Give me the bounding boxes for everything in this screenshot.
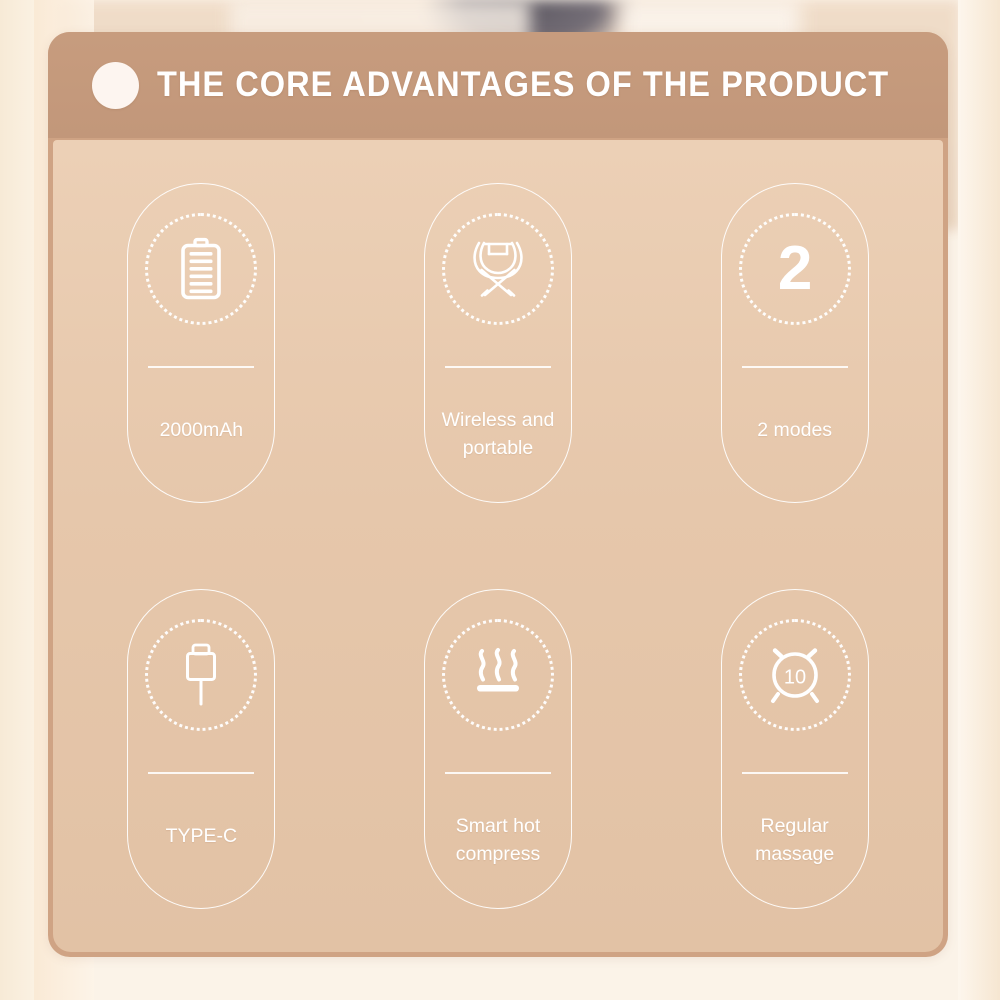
icon-container xyxy=(145,213,257,325)
feature-cell-two-modes: 2 2 modes xyxy=(646,140,943,546)
icon-container xyxy=(442,619,554,731)
icon-container: 2 xyxy=(739,213,851,325)
feature-label: 2 modes xyxy=(726,416,864,444)
feature-cell-wireless-portable: Wireless and portable xyxy=(350,140,647,546)
panel-header: THE CORE ADVANTAGES OF THE PRODUCT xyxy=(48,32,948,138)
feature-label: Wireless and portable xyxy=(429,406,567,463)
feature-label: Smart hot compress xyxy=(429,812,567,869)
usb-type-c-plug-icon xyxy=(169,643,233,707)
feature-card[interactable]: Wireless and portable xyxy=(424,183,572,503)
feature-label-line: portable xyxy=(429,434,567,462)
feature-cell-smart-hot-compress: Smart hot compress xyxy=(350,546,647,952)
feature-card[interactable]: Smart hot compress xyxy=(424,589,572,909)
feature-cell-regular-massage: 10 Regular massage xyxy=(646,546,943,952)
mode-count-value: 2 xyxy=(778,238,811,300)
feature-label: 2000mAh xyxy=(132,416,270,444)
features-grid: 2000mAh xyxy=(53,140,943,952)
neck-massager-icon xyxy=(466,237,530,301)
feature-label-line: massage xyxy=(726,840,864,868)
icon-container xyxy=(145,619,257,731)
alarm-clock-icon: 10 xyxy=(763,643,827,707)
background-stripe-right xyxy=(958,0,1000,1000)
feature-cell-type-c-charging: TYPE-C xyxy=(53,546,350,952)
page-title: THE CORE ADVANTAGES OF THE PRODUCT xyxy=(157,65,889,105)
card-divider xyxy=(445,366,551,368)
advantages-panel: THE CORE ADVANTAGES OF THE PRODUCT xyxy=(48,32,948,957)
icon-container xyxy=(442,213,554,325)
icon-container: 10 xyxy=(739,619,851,731)
feature-card[interactable]: 2 2 modes xyxy=(721,183,869,503)
massage-duration-value: 10 xyxy=(784,667,806,689)
feature-card[interactable]: 2000mAh xyxy=(127,183,275,503)
feature-label: TYPE-C xyxy=(132,822,270,850)
card-divider xyxy=(148,366,254,368)
heat-waves-icon xyxy=(466,643,530,707)
battery-icon xyxy=(169,237,233,301)
card-divider xyxy=(742,772,848,774)
feature-card[interactable]: TYPE-C xyxy=(127,589,275,909)
card-divider xyxy=(742,366,848,368)
infographic-stage: THE CORE ADVANTAGES OF THE PRODUCT xyxy=(0,0,1000,1000)
card-divider xyxy=(445,772,551,774)
feature-label: Regular massage xyxy=(726,812,864,869)
card-divider xyxy=(148,772,254,774)
feature-label-line: Wireless and xyxy=(429,406,567,434)
circle-bullet-icon xyxy=(92,62,139,109)
number-2-icon: 2 xyxy=(763,237,827,301)
feature-cell-battery-capacity: 2000mAh xyxy=(53,140,350,546)
feature-card[interactable]: 10 Regular massage xyxy=(721,589,869,909)
feature-label-line: compress xyxy=(429,840,567,868)
background-stripe-left xyxy=(0,0,34,1000)
feature-label-line: Regular xyxy=(726,812,864,840)
feature-label-line: Smart hot xyxy=(429,812,567,840)
